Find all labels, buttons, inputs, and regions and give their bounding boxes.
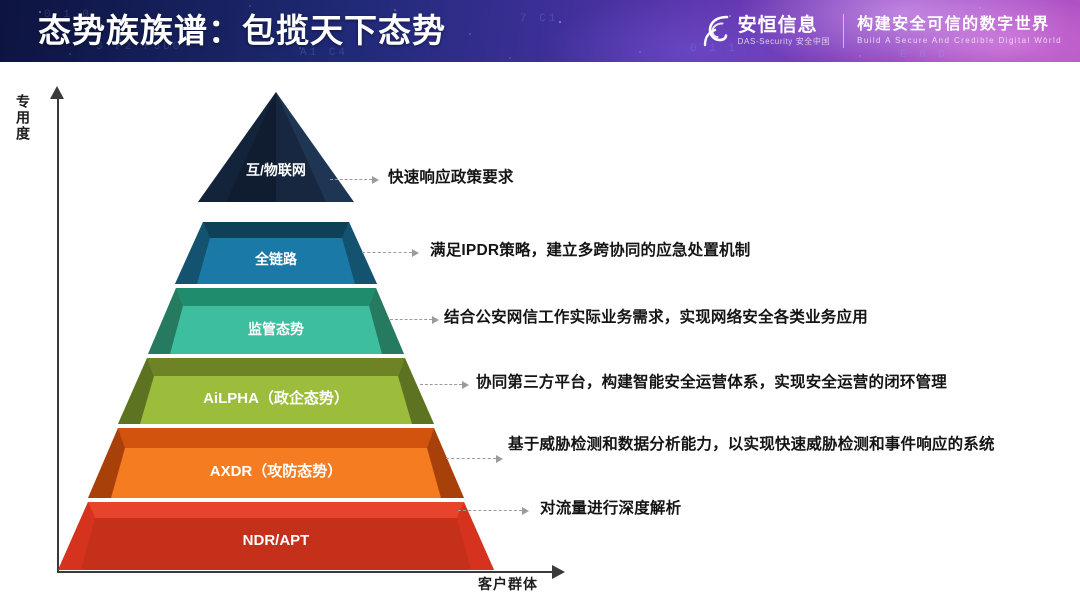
brand-slogan-en: Build A Secure And Credible Digital Worl… [857, 35, 1062, 47]
das-spiral-logo-icon [701, 15, 731, 47]
brand-slogan-block: 构建安全可信的数字世界 Build A Secure And Credible … [857, 15, 1062, 47]
description-axdr: 基于威胁检测和数据分析能力，以实现快速威胁检测和事件响应的系统 [508, 433, 1033, 456]
brand-logo: 安恒信息 DAS-Security 安全中国 构建安全可信的数字世界 Build… [701, 8, 1062, 54]
description-ndr-apt: 对流量进行深度解析 [540, 497, 1040, 520]
pyramid-tier-ndr-apt[interactable]: NDR/APT [58, 502, 494, 570]
description-ailpha: 协同第三方平台，构建智能安全运营体系，实现安全运营的闭环管理 [476, 371, 1076, 394]
logo-divider [843, 14, 844, 48]
description-full-link: 满足IPDR策略，建立多跨协同的应急处置机制 [430, 239, 1030, 262]
description-apex: 快速响应政策要求 [388, 166, 888, 189]
pyramid-tier-supervision[interactable]: 监管态势 [148, 288, 404, 354]
pyramid-tier-full-link[interactable]: 全链路 [175, 222, 377, 284]
brand-slogan-cn: 构建安全可信的数字世界 [857, 15, 1062, 35]
brand-name-en: DAS-Security 安全中国 [738, 36, 830, 47]
brand-name-cn: 安恒信息 [738, 15, 830, 36]
pyramid-tier-apex[interactable]: 互/物联网 [198, 92, 354, 202]
page-header: 0 1 0 3 F2 F3D0 A1 C4 7 C1 0 1 1 E 0 D 态… [0, 0, 1080, 62]
pyramid-tier-ailpha[interactable]: AiLPHA（政企态势） [118, 358, 434, 424]
pyramid-tier-axdr[interactable]: AXDR（攻防态势） [88, 428, 464, 498]
page-title: 态势族族谱：包揽天下态势 [38, 6, 446, 56]
brand-name-block: 安恒信息 DAS-Security 安全中国 [738, 15, 830, 47]
pyramid-diagram: 互/物联网 全链路 监管态势 [0, 62, 560, 608]
diagram-canvas: 专用度 客户群体 互/物联网 全链路 [0, 62, 1080, 608]
description-supervision: 结合公安网信工作实际业务需求，实现网络安全各类业务应用 [444, 306, 1064, 329]
